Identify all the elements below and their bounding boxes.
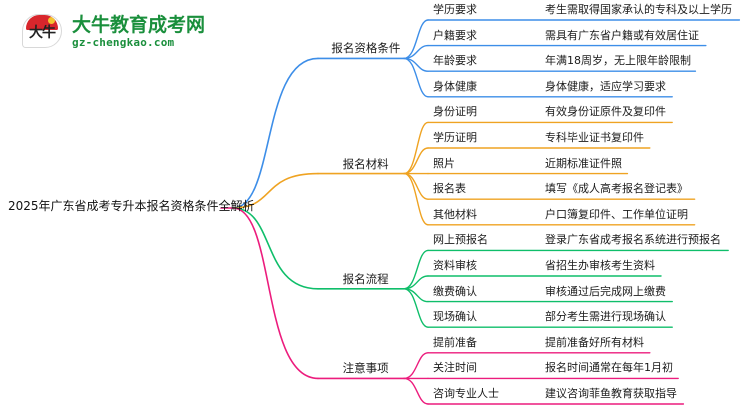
leaf-title-4-1: 提前准备 xyxy=(433,336,477,350)
leaf-desc-3-2: 省招生办审核考生资料 xyxy=(545,259,655,273)
leaf-title-1-2: 户籍要求 xyxy=(433,29,477,43)
leaf-title-4-2: 关注时间 xyxy=(433,361,477,375)
leaf-title-2-5: 其他材料 xyxy=(433,208,477,222)
leaf-title-3-4: 现场确认 xyxy=(433,310,477,324)
leaf-title-2-4: 报名表 xyxy=(433,182,466,196)
mindmap-root-label: 2025年广东省成考专升本报名资格条件全解析 xyxy=(8,199,255,213)
leaf-title-2-1: 身份证明 xyxy=(433,105,477,119)
leaf-desc-1-1: 考生需取得国家承认的专科及以上学历 xyxy=(545,3,732,17)
leaf-title-3-1: 网上预报名 xyxy=(433,233,488,247)
leaf-desc-4-3: 建议咨询菲鱼教育获取指导 xyxy=(545,387,677,401)
branch-label-2: 报名材料 xyxy=(343,157,389,171)
leaf-desc-1-4: 身体健康，适应学习要求 xyxy=(545,80,666,94)
leaf-title-2-3: 照片 xyxy=(433,157,455,171)
mindmap-canvas: 2025年广东省成考专升本报名资格条件全解析 报名资格条件学历要求考生需取得国家… xyxy=(0,0,750,410)
branch-label-4: 注意事项 xyxy=(343,361,389,375)
leaf-desc-1-2: 需具有广东省户籍或有效居住证 xyxy=(545,29,699,43)
leaf-title-4-3: 咨询专业人士 xyxy=(433,387,499,401)
leaf-title-2-2: 学历证明 xyxy=(433,131,477,145)
leaf-desc-4-2: 报名时间通常在每年1月初 xyxy=(545,361,673,375)
leaf-title-1-4: 身体健康 xyxy=(433,80,477,94)
leaf-desc-2-2: 专科毕业证书复印件 xyxy=(545,131,644,145)
branch-label-1: 报名资格条件 xyxy=(331,41,400,55)
leaf-desc-4-1: 提前准备好所有材料 xyxy=(545,336,644,350)
branch-label-3: 报名流程 xyxy=(343,272,389,286)
leaf-desc-3-1: 登录广东省成考报名系统进行预报名 xyxy=(545,233,721,247)
leaf-title-1-3: 年龄要求 xyxy=(433,54,477,68)
leaf-desc-1-3: 年满18周岁，无上限年龄限制 xyxy=(545,54,691,68)
leaf-desc-2-3: 近期标准证件照 xyxy=(545,157,622,171)
leaf-desc-2-1: 有效身份证原件及复印件 xyxy=(545,105,666,119)
leaf-desc-2-5: 户口簿复印件、工作单位证明 xyxy=(545,208,688,222)
leaf-desc-3-4: 部分考生需进行现场确认 xyxy=(545,310,666,324)
leaf-desc-3-3: 审核通过后完成网上缴费 xyxy=(545,285,666,299)
leaf-title-3-2: 资料审核 xyxy=(433,259,477,273)
leaf-desc-2-4: 填写《成人高考报名登记表》 xyxy=(545,182,688,196)
leaf-title-1-1: 学历要求 xyxy=(433,3,477,17)
leaf-title-3-3: 缴费确认 xyxy=(433,285,477,299)
